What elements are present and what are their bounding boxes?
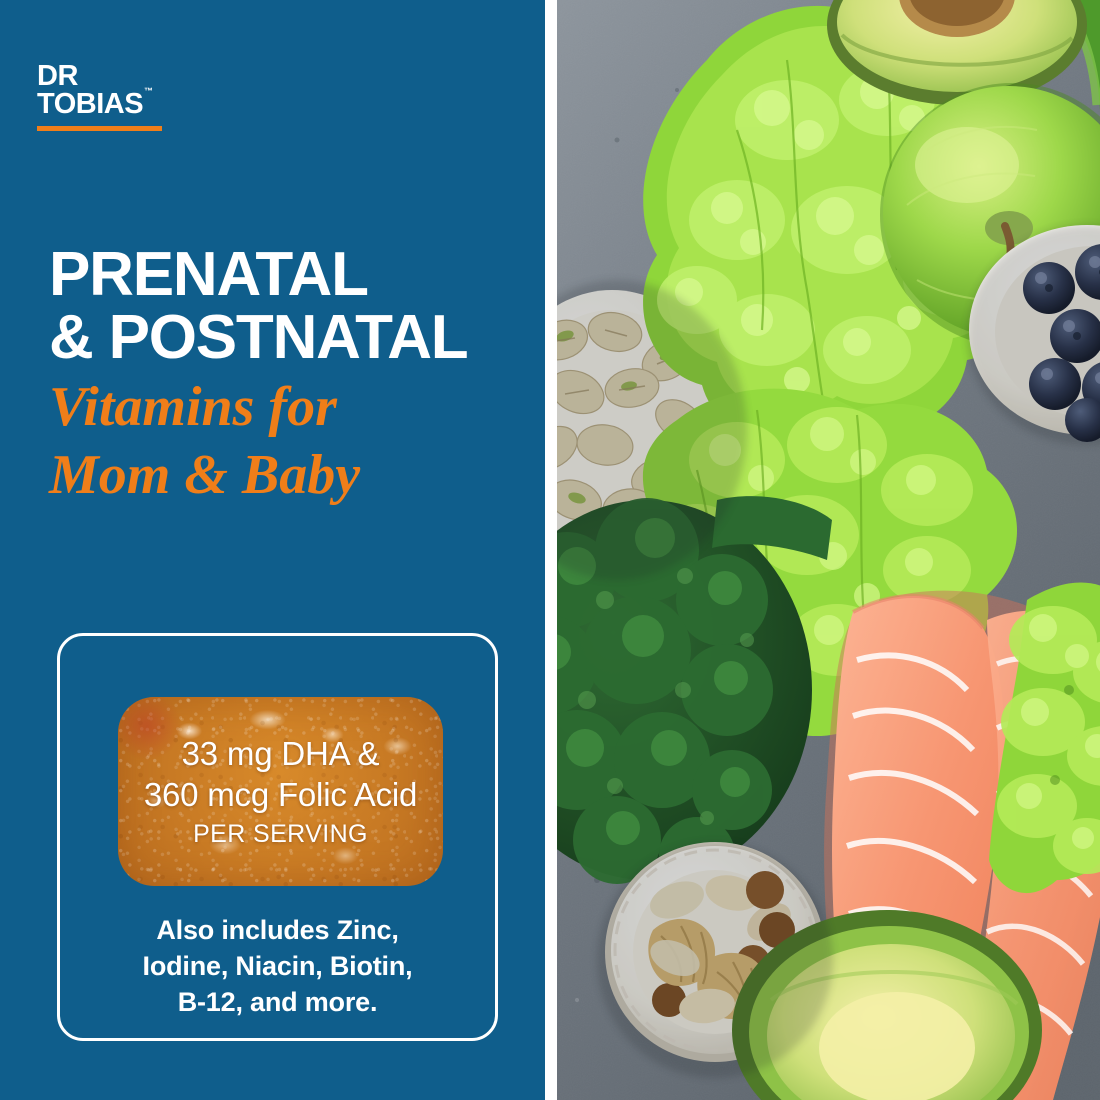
dosage-line-2: 360 mcg Folic Acid <box>118 775 443 815</box>
subheadline-line-1: Vitamins for <box>49 378 519 436</box>
trademark-symbol: ™ <box>144 86 153 96</box>
headline-line-1: PRENATAL <box>49 243 519 306</box>
subheadline-line-2: Mom & Baby <box>49 446 519 504</box>
brand-logo-line2-text: TOBIAS <box>37 88 143 120</box>
also-includes-line-3: B-12, and more. <box>178 987 378 1017</box>
headline-line-2: & POSTNATAL <box>49 306 519 369</box>
dosage-gummy-badge: 33 mg DHA & 360 mcg Folic Acid PER SERVI… <box>118 697 443 886</box>
dosage-line-1: 33 mg DHA & <box>118 734 443 774</box>
headline-block: PRENATAL & POSTNATAL Vitamins for Mom & … <box>49 243 519 504</box>
food-photo <box>557 0 1100 1100</box>
also-includes-line-2: Iodine, Niacin, Biotin, <box>143 951 413 981</box>
brand-logo[interactable]: DR TOBIAS™ <box>37 62 237 131</box>
dosage-text-group: 33 mg DHA & 360 mcg Folic Acid PER SERVI… <box>118 734 443 849</box>
also-includes-line-1: Also includes Zinc, <box>156 915 398 945</box>
per-serving-label: PER SERVING <box>118 820 443 849</box>
brand-logo-underline <box>37 126 162 131</box>
brand-logo-line1: DR <box>37 62 237 90</box>
brand-logo-line2: TOBIAS™ <box>37 90 152 118</box>
ad-canvas: DR TOBIAS™ PRENATAL & POSTNATAL Vitamins… <box>0 0 1100 1100</box>
also-includes-text: Also includes Zinc, Iodine, Niacin, Biot… <box>60 912 495 1021</box>
ingredient-info-card: 33 mg DHA & 360 mcg Folic Acid PER SERVI… <box>57 633 498 1041</box>
food-photo-illustration <box>557 0 1100 1100</box>
left-info-panel: DR TOBIAS™ PRENATAL & POSTNATAL Vitamins… <box>0 0 545 1100</box>
